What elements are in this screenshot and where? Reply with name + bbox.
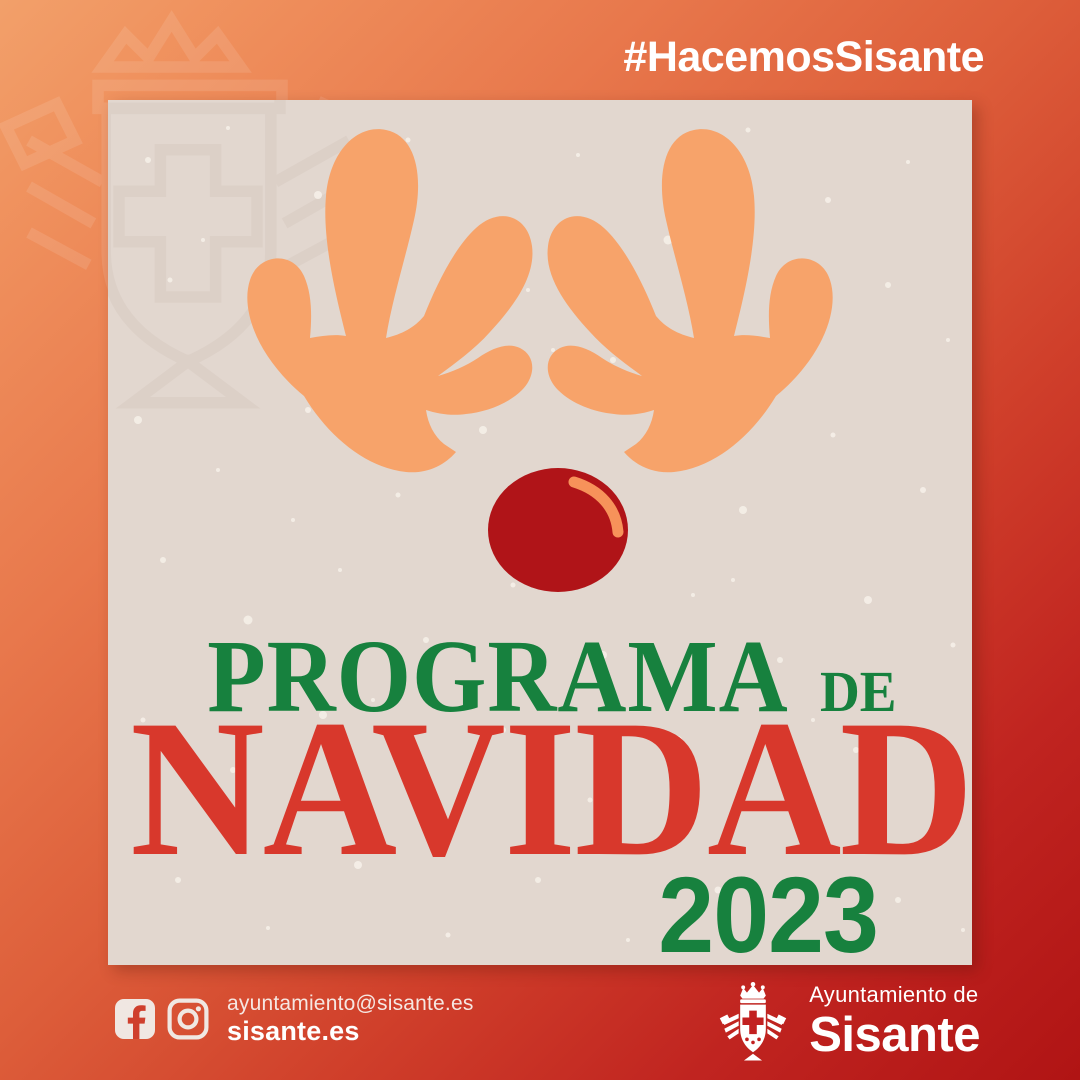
christmas-program-poster: #HacemosSisante (0, 0, 1080, 1080)
footer-contact-block: ayuntamiento@sisante.es sisante.es (114, 992, 474, 1046)
left-antler (247, 129, 532, 472)
contact-email: ayuntamiento@sisante.es (227, 992, 474, 1016)
right-antler (548, 129, 833, 472)
headline-line-year: 2023 (650, 861, 886, 965)
brand-prefix: Ayuntamiento de (809, 984, 980, 1006)
social-icons (114, 998, 209, 1040)
instagram-link[interactable] (167, 998, 209, 1040)
reindeer-antlers (108, 100, 972, 520)
poster-card: PROGRAMADE NAVIDAD 2023 (108, 100, 972, 965)
footer-brand-block: Ayuntamiento de Sisante (715, 982, 980, 1062)
instagram-icon (167, 998, 209, 1040)
contact-text: ayuntamiento@sisante.es sisante.es (227, 992, 474, 1046)
card-coat-of-arms-watermark (108, 100, 418, 440)
contact-website: sisante.es (227, 1016, 474, 1046)
brand-name: Sisante (809, 1011, 980, 1060)
facebook-icon (114, 998, 156, 1040)
brand-text: Ayuntamiento de Sisante (809, 984, 980, 1060)
headline-block: PROGRAMADE NAVIDAD 2023 (108, 625, 972, 955)
coat-of-arms-icon (715, 982, 791, 1062)
reindeer-nose (478, 460, 638, 600)
hashtag-text: #HacemosSisante (623, 33, 984, 82)
text-year: 2023 (658, 861, 878, 965)
facebook-link[interactable] (114, 998, 156, 1040)
